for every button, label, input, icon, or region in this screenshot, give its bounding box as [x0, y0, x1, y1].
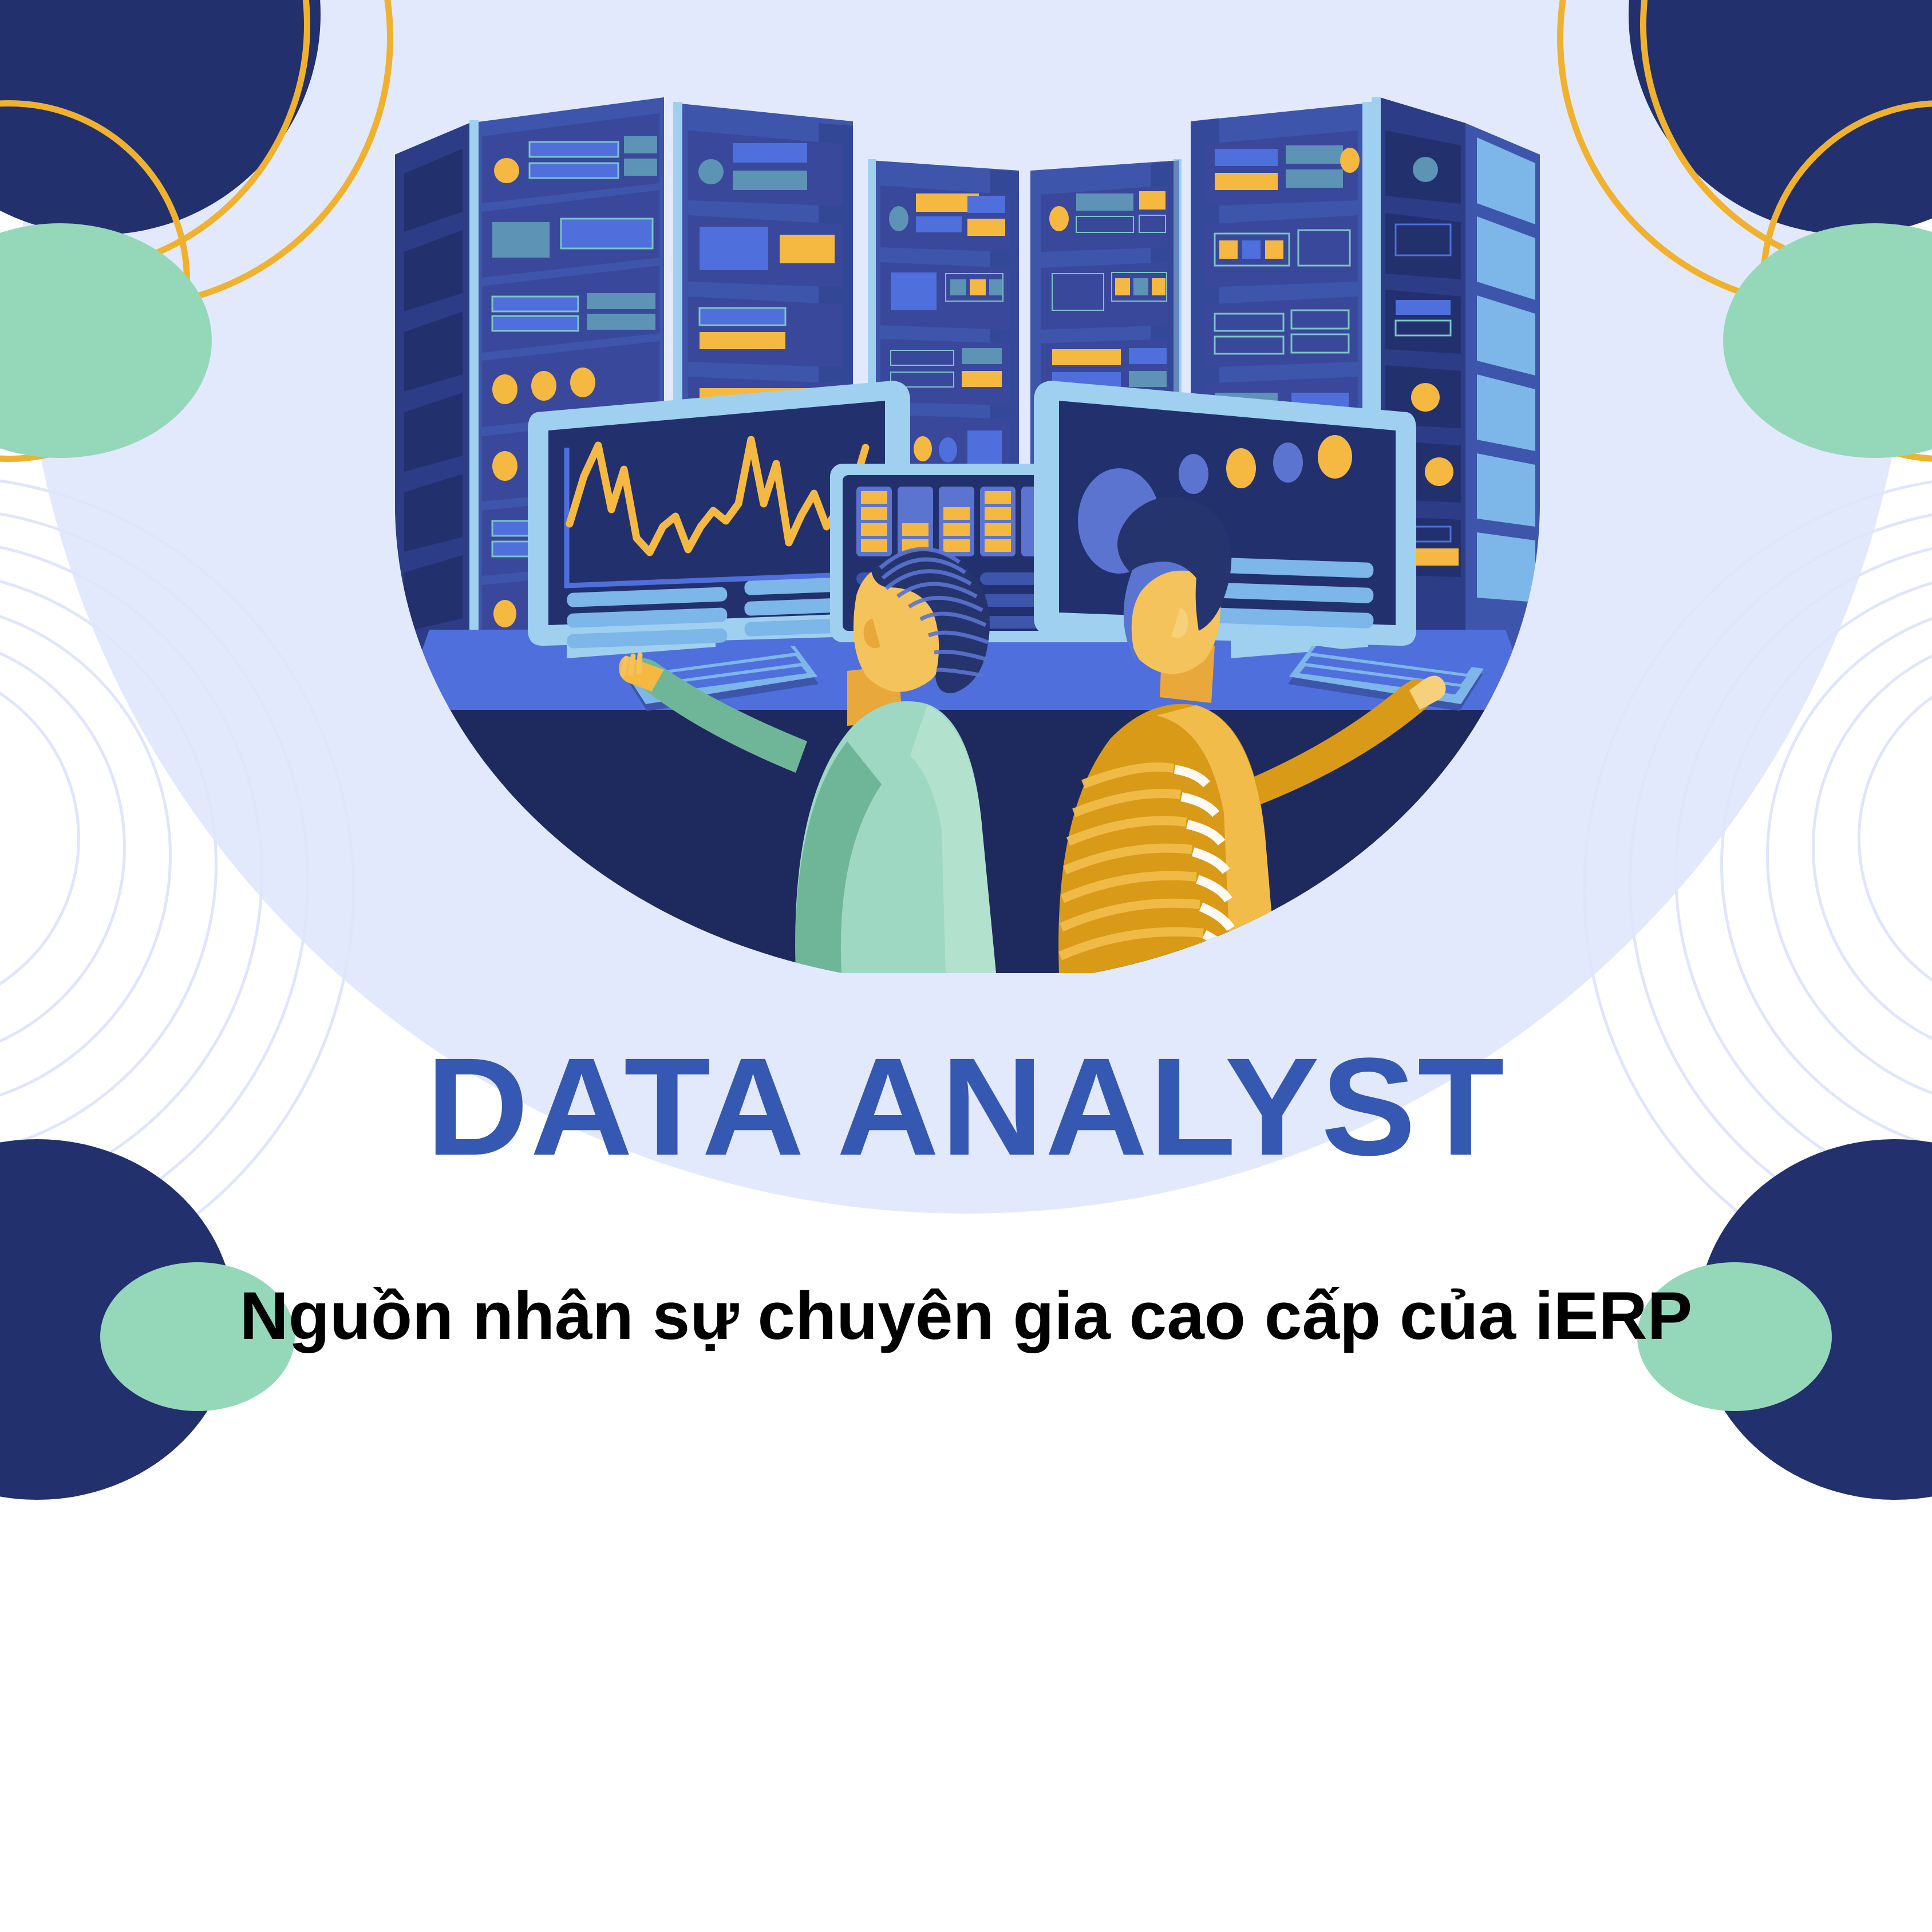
data-center-illustration — [395, 69, 1540, 973]
page-title: DATA ANALYST — [0, 1037, 1932, 1176]
poster-canvas: DATA ANALYST Nguồn nhân sự chuyên gia ca… — [0, 0, 1932, 1932]
monitor-right — [1034, 381, 1416, 658]
page-subtitle: Nguồn nhân sự chuyên gia cao cấp của iER… — [0, 1282, 1932, 1350]
